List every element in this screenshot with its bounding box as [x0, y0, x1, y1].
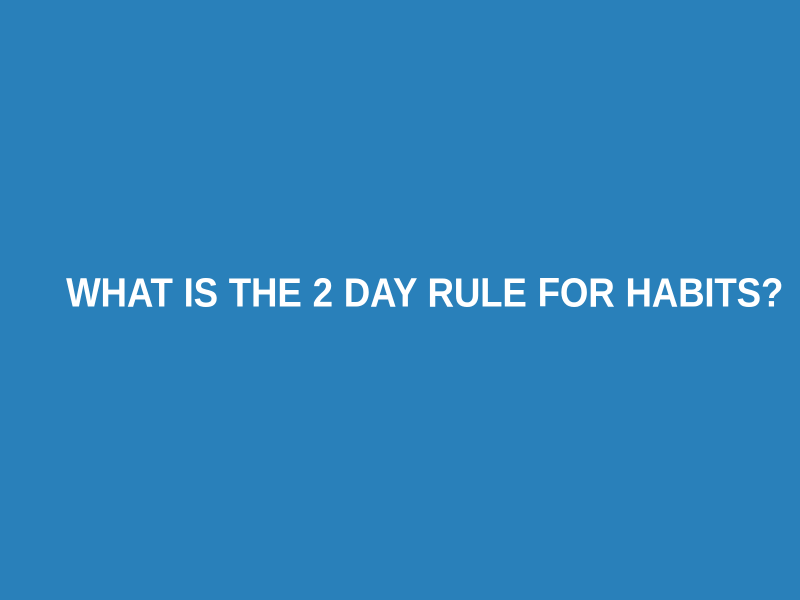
- featured-image-banner: WHAT IS THE 2 DAY RULE FOR HABITS?: [0, 0, 800, 600]
- page-title: WHAT IS THE 2 DAY RULE FOR HABITS?: [66, 271, 783, 314]
- headline-container: WHAT IS THE 2 DAY RULE FOR HABITS?: [0, 271, 800, 314]
